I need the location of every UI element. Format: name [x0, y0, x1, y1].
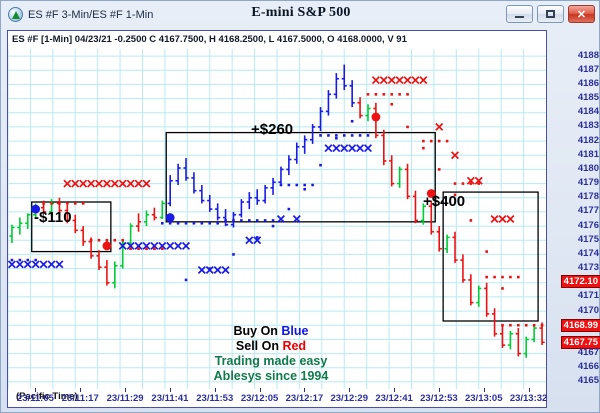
stop-dot	[351, 134, 354, 137]
time-label: 23/12:29	[330, 393, 368, 404]
chart-frame[interactable]: ES #F [1-Min] 04/23/21 -0.2500 C 4167.75…	[7, 30, 547, 408]
trend-dot	[351, 120, 354, 123]
stop-dot	[145, 247, 148, 250]
ohlc-bar	[144, 211, 149, 227]
trend-dot	[438, 168, 441, 171]
stop-dot	[153, 247, 156, 250]
time-tick	[304, 388, 305, 392]
signal-x-marker	[396, 77, 403, 84]
signal-x-marker	[380, 77, 387, 84]
price-label: 4179	[578, 177, 599, 188]
stop-dot	[303, 184, 306, 187]
ohlc-bar	[136, 213, 141, 231]
stop-dot	[232, 219, 235, 222]
ohlc-bar	[516, 328, 521, 356]
ohlc-bar	[160, 201, 165, 219]
ohlc-bar	[500, 325, 505, 348]
trend-dot	[185, 279, 188, 282]
signal-x-marker	[214, 267, 221, 274]
trading-chart-window: ES #F 3-Min/ES #F 1-Min E-mini S&P 500 ✕…	[0, 0, 600, 413]
price-label-highlighted: 4168.99	[561, 319, 600, 332]
time-tick	[529, 388, 530, 392]
signal-x-marker	[325, 145, 332, 152]
price-label: 4182	[578, 135, 599, 146]
signal-x-marker	[357, 145, 364, 152]
trend-dot	[422, 147, 425, 150]
stop-dot	[34, 259, 37, 262]
stop-dot	[137, 247, 140, 250]
stop-dot	[129, 247, 132, 250]
stop-dot	[185, 222, 188, 225]
stop-dot	[517, 276, 520, 279]
price-label: 4166	[578, 361, 599, 372]
time-axis: 23/11:0523/11:1723/11:2923/11:4123/11:53…	[7, 393, 600, 411]
ohlc-bar	[452, 232, 457, 263]
signal-x-marker	[404, 77, 411, 84]
ohlc-bar	[176, 164, 181, 185]
signal-x-marker	[167, 243, 174, 250]
stop-dot	[343, 134, 346, 137]
stop-dot	[509, 324, 512, 327]
stop-dot	[98, 239, 101, 242]
trade-box-1	[166, 133, 435, 222]
stop-dot	[446, 140, 449, 143]
trend-dot	[470, 219, 473, 222]
price-label: 4181	[578, 149, 599, 160]
promo-line-1-word: Blue	[281, 324, 308, 338]
stop-dot	[11, 259, 14, 262]
stop-dot	[367, 134, 370, 137]
stop-dot	[224, 219, 227, 222]
maximize-button[interactable]	[537, 5, 564, 23]
time-label: 23/12:41	[375, 393, 413, 404]
stop-dot	[367, 93, 370, 96]
price-label: 4176	[578, 220, 599, 231]
stop-dot	[280, 184, 283, 187]
time-label: 23/11:05	[17, 393, 54, 404]
ohlc-bar	[152, 208, 157, 221]
signal-x-marker	[16, 261, 23, 268]
stop-dot	[82, 202, 85, 205]
close-icon: ✕	[577, 8, 586, 21]
signal-x-marker	[420, 77, 427, 84]
time-tick	[215, 388, 216, 392]
stop-dot	[501, 276, 504, 279]
stop-dot	[58, 202, 61, 205]
ohlc-bar	[81, 226, 86, 246]
stop-dot	[256, 219, 259, 222]
price-label: 4180	[578, 163, 599, 174]
ohlc-bar	[263, 185, 268, 203]
trend-dot	[256, 236, 259, 239]
stop-dot	[327, 134, 330, 137]
stop-dot	[319, 134, 322, 137]
ohlc-bar	[318, 107, 323, 131]
stop-dot	[42, 202, 45, 205]
ohlc-bar	[168, 175, 173, 206]
trend-dot	[288, 208, 291, 211]
signal-x-marker	[56, 261, 63, 268]
ohlc-bar	[270, 178, 275, 195]
price-label: 4170	[578, 305, 599, 316]
signal-x-marker	[333, 145, 340, 152]
ohlc-bar	[342, 65, 347, 90]
time-tick	[170, 388, 171, 392]
stop-dot	[517, 324, 520, 327]
stop-dot	[462, 182, 465, 185]
ohlc-bar	[413, 191, 418, 224]
stop-dot	[509, 276, 512, 279]
stop-dot	[177, 222, 180, 225]
price-label: 4188	[578, 50, 599, 61]
time-tick	[260, 388, 261, 392]
stop-dot	[201, 222, 204, 225]
stop-dot	[50, 202, 53, 205]
stop-dot	[121, 239, 124, 242]
promo-line-2-prefix: Sell On	[236, 339, 283, 353]
stop-dot	[26, 259, 29, 262]
ohlc-bar	[191, 172, 196, 193]
promo-text-block: Buy On Blue Sell On Red Trading made eas…	[176, 324, 366, 384]
price-label: 4165	[578, 375, 599, 386]
signal-x-marker	[365, 145, 372, 152]
ohlc-bar	[357, 97, 362, 118]
stop-dot	[383, 93, 386, 96]
signal-x-marker	[183, 243, 190, 250]
price-label-highlighted: 4172.10	[561, 275, 600, 288]
price-label: 4175	[578, 234, 599, 245]
trend-dot	[208, 267, 211, 270]
signal-x-marker	[372, 77, 379, 84]
time-tick	[80, 388, 81, 392]
window-titlebar: ES #F 3-Min/ES #F 1-Min E-mini S&P 500 ✕	[1, 1, 600, 28]
signal-x-marker	[507, 216, 514, 223]
stop-dot	[106, 239, 109, 242]
trend-dot	[501, 287, 504, 290]
stop-dot	[375, 93, 378, 96]
time-label: 23/11:41	[151, 393, 188, 404]
close-button[interactable]: ✕	[568, 5, 595, 23]
stop-dot	[74, 202, 77, 205]
time-tick	[125, 388, 126, 392]
trend-dot	[335, 137, 338, 140]
stop-dot	[406, 93, 409, 96]
stop-dot	[161, 247, 164, 250]
ohlc-bar	[334, 73, 339, 98]
ohlc-bar	[294, 143, 299, 164]
ohlc-bar	[112, 262, 117, 289]
signal-x-marker	[175, 243, 182, 250]
stop-dot	[422, 140, 425, 143]
signal-x-marker	[40, 261, 47, 268]
price-label: 4177	[578, 205, 599, 216]
ohlc-bar	[255, 189, 260, 205]
time-tick	[484, 388, 485, 392]
trade-pl-label-0: -$110	[34, 209, 72, 226]
stop-dot	[208, 222, 211, 225]
time-label: 23/13:05	[465, 393, 503, 404]
trade-pl-label-1: +$260	[251, 121, 293, 138]
price-label: 4173	[578, 262, 599, 273]
signal-x-marker	[32, 261, 39, 268]
price-label: 4185	[578, 92, 599, 103]
price-label: 4174	[578, 248, 599, 259]
stop-dot	[335, 134, 338, 137]
stop-dot	[161, 222, 164, 225]
signal-x-marker	[412, 77, 419, 84]
ohlc-bar	[199, 185, 204, 203]
ohlc-bar	[468, 274, 473, 305]
signal-x-marker	[198, 267, 205, 274]
minimize-icon	[515, 16, 524, 18]
stop-dot	[430, 140, 433, 143]
ohlc-bar	[73, 215, 78, 233]
trend-dot	[232, 253, 235, 256]
buy-signal-dot	[166, 213, 175, 222]
stop-dot	[66, 202, 69, 205]
ohlc-bar	[326, 90, 331, 116]
time-label: 23/11:17	[62, 393, 99, 404]
stop-dot	[169, 222, 172, 225]
stop-dot	[193, 222, 196, 225]
stop-dot	[311, 184, 314, 187]
ohlc-bar	[476, 286, 481, 307]
promo-line-2: Sell On Red	[176, 339, 366, 354]
signal-x-marker	[222, 267, 229, 274]
ohlc-bar	[302, 135, 307, 153]
stop-dot	[398, 93, 401, 96]
price-label: 4184	[578, 106, 599, 117]
stop-dot	[114, 239, 117, 242]
ohlc-bar	[247, 192, 252, 209]
ohlc-bar	[389, 155, 394, 186]
price-axis[interactable]: 4188418741864185418441834182418141804179…	[549, 30, 600, 408]
signal-x-marker	[491, 216, 498, 223]
trend-dot	[406, 126, 409, 129]
promo-line-1-prefix: Buy On	[233, 324, 281, 338]
ohlc-bar	[484, 283, 489, 317]
time-label: 23/12:05	[241, 393, 279, 404]
signal-x-marker	[349, 145, 356, 152]
trend-dot	[303, 188, 306, 191]
ohlc-bar	[381, 130, 386, 165]
ohlc-bar	[104, 260, 109, 286]
stop-dot	[533, 324, 536, 327]
window-controls: ✕	[506, 5, 595, 23]
trend-dot	[319, 164, 322, 167]
stop-dot	[438, 140, 441, 143]
sell-signal-dot	[102, 242, 111, 251]
time-label: 23/13:32	[510, 393, 548, 404]
ohlc-bar	[286, 155, 291, 175]
trend-dot	[272, 225, 275, 228]
ohlc-bar	[445, 235, 450, 253]
stop-dot	[216, 222, 219, 225]
stop-dot	[248, 219, 251, 222]
stop-dot	[240, 219, 243, 222]
promo-line-2-word: Red	[282, 339, 306, 353]
maximize-icon	[546, 10, 555, 18]
quote-line: ES #F [1-Min] 04/23/21 -0.2500 C 4167.75…	[12, 34, 407, 45]
trend-dot	[390, 103, 393, 106]
stop-dot	[454, 182, 457, 185]
ohlc-bar	[437, 226, 442, 252]
ohlc-bar	[239, 199, 244, 217]
stop-dot	[295, 184, 298, 187]
price-label: 4187	[578, 64, 599, 75]
price-label: 4183	[578, 120, 599, 131]
trade-pl-label-2: +$400	[423, 193, 465, 210]
time-label: 23/12:17	[286, 393, 324, 404]
time-tick	[35, 388, 36, 392]
stop-dot	[525, 324, 528, 327]
ohlc-bar	[508, 331, 513, 349]
price-label: 4171	[578, 290, 599, 301]
promo-line-1: Buy On Blue	[176, 324, 366, 339]
trend-dot	[485, 250, 488, 253]
stop-dot	[501, 324, 504, 327]
stop-dot	[485, 276, 488, 279]
time-tick	[349, 388, 350, 392]
stop-dot	[493, 276, 496, 279]
ohlc-bar	[492, 308, 497, 336]
stop-dot	[272, 219, 275, 222]
price-label: 4178	[578, 191, 599, 202]
stop-dot	[90, 239, 93, 242]
stop-dot	[288, 184, 291, 187]
stop-dot	[541, 324, 544, 327]
time-label: 23/12:53	[420, 393, 458, 404]
sell-signal-dot	[371, 113, 380, 122]
price-label: 4167	[578, 347, 599, 358]
stop-dot	[359, 134, 362, 137]
time-label: 23/11:53	[196, 393, 233, 404]
stop-dot	[264, 219, 267, 222]
minimize-button[interactable]	[506, 5, 533, 23]
stop-dot	[19, 259, 22, 262]
signal-x-marker	[499, 216, 506, 223]
time-tick	[394, 388, 395, 392]
time-label: 23/11:29	[107, 393, 144, 404]
stop-dot	[390, 93, 393, 96]
price-label: 4186	[578, 78, 599, 89]
promo-line-3: Trading made easy	[176, 354, 366, 369]
time-tick	[439, 388, 440, 392]
signal-x-marker	[48, 261, 55, 268]
promo-line-4: Ablesys since 1994	[176, 369, 366, 384]
ohlc-bar	[96, 250, 101, 270]
signal-x-marker	[9, 261, 16, 268]
